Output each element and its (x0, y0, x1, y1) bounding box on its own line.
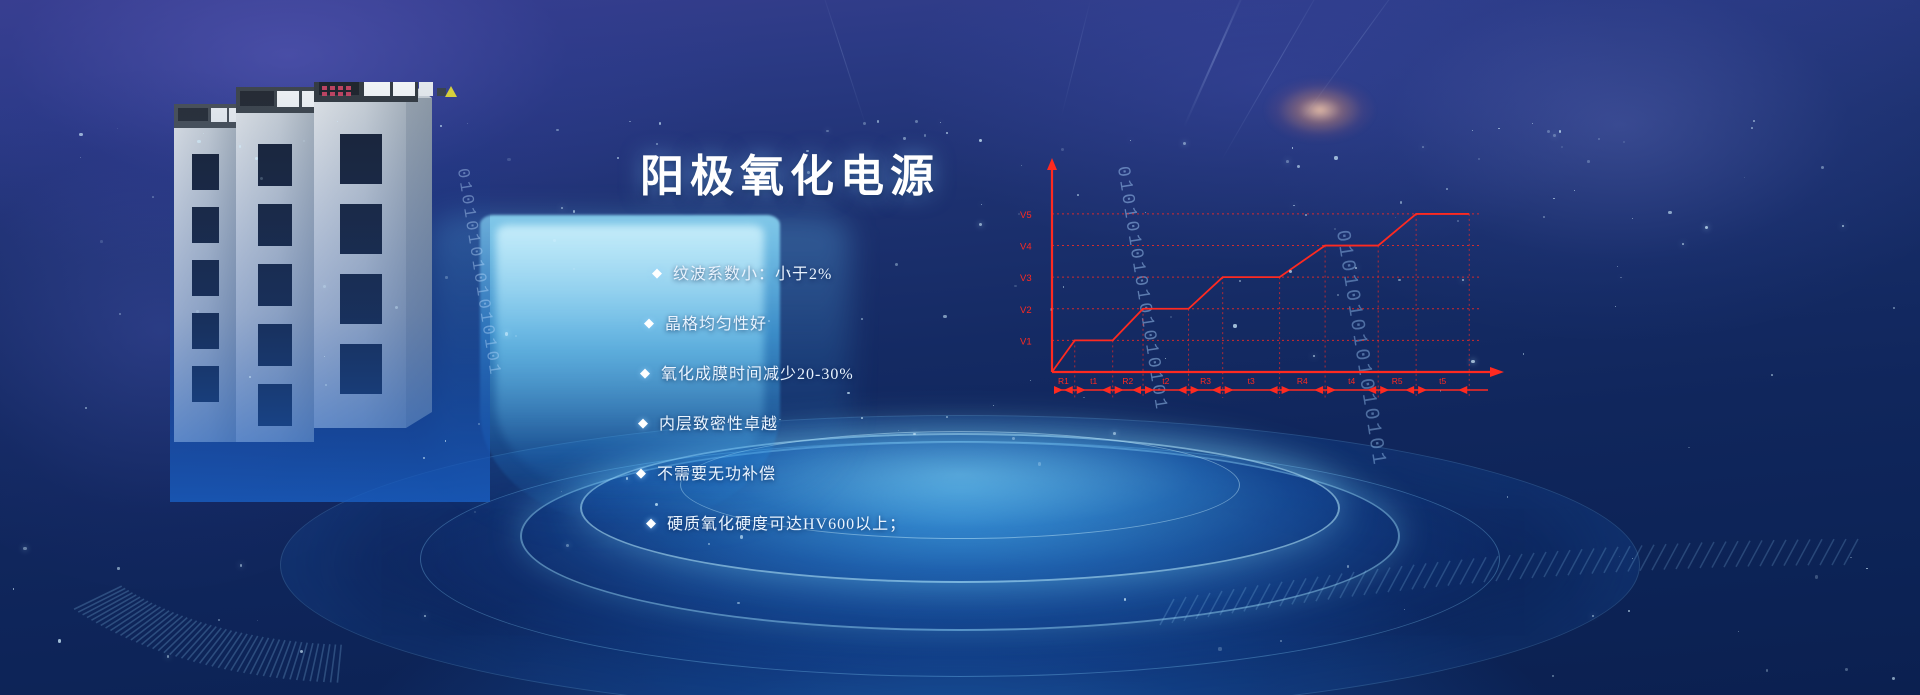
particle (1218, 647, 1221, 650)
page-title: 阳极氧化电源 (640, 140, 1260, 204)
particle (1404, 609, 1405, 610)
feature-item: ◆晶格均匀性好 (644, 310, 1260, 334)
diamond-bullet-icon: ◆ (646, 516, 657, 529)
particle (474, 511, 477, 514)
feature-item: ◆纹波系数小：小于2% (652, 260, 1260, 284)
particle (561, 491, 562, 492)
particle (1821, 166, 1824, 169)
particle (117, 128, 118, 129)
feature-text: 氧化成膜时间减少20-30% (661, 360, 854, 384)
particle (1688, 447, 1689, 448)
light-streak (1183, 0, 1246, 127)
feature-text: 不需要无功补偿 (657, 460, 776, 484)
particle (1705, 226, 1708, 229)
particle (1766, 669, 1769, 672)
particle (1615, 306, 1616, 307)
particle (257, 620, 258, 621)
particle (1124, 598, 1126, 600)
light-streak (1061, 0, 1091, 117)
diamond-bullet-icon: ◆ (640, 366, 651, 379)
particle (626, 477, 628, 479)
particle (826, 130, 828, 132)
particle (863, 122, 866, 125)
particle (573, 210, 576, 213)
particle (1866, 568, 1868, 570)
particle (940, 122, 941, 123)
particle (23, 547, 26, 550)
light-streak (820, 0, 867, 129)
particle (659, 122, 661, 124)
particle (877, 120, 879, 122)
particle (1280, 640, 1282, 642)
particle (561, 207, 563, 209)
particle (1543, 216, 1545, 218)
feature-text: 晶格均匀性好 (665, 310, 767, 334)
particle (13, 588, 15, 590)
particle (515, 335, 517, 337)
chart-segment-label: t4 (1348, 376, 1355, 386)
particle (1422, 146, 1424, 148)
particle (1472, 130, 1473, 131)
feature-text: 纹波系数小：小于2% (673, 260, 832, 284)
particle (1628, 610, 1630, 612)
feature-item: ◆不需要无功补偿 (636, 460, 1260, 484)
chart-segment-label: R4 (1297, 376, 1308, 386)
particle (85, 407, 87, 409)
particle (1523, 353, 1524, 354)
chart-segment-label: R5 (1392, 376, 1403, 386)
particle (1561, 146, 1563, 148)
particle (1598, 138, 1600, 140)
particle (1619, 556, 1620, 557)
particle (1744, 177, 1745, 178)
particle (1617, 266, 1619, 268)
particle (1592, 615, 1594, 617)
particle (629, 121, 630, 122)
diamond-bullet-icon: ◆ (638, 416, 649, 429)
particle (1532, 123, 1533, 124)
lens-flare-glow (1265, 78, 1375, 142)
particle (1892, 677, 1895, 680)
particle (1850, 557, 1851, 558)
particle (1547, 130, 1551, 134)
particle (1738, 631, 1739, 632)
particle (1507, 496, 1509, 498)
particle (1587, 160, 1590, 163)
feature-item: ◆氧化成膜时间减少20-30% (640, 360, 1260, 384)
light-streak (1220, 0, 1326, 162)
particle (100, 240, 103, 243)
particle (1498, 128, 1500, 130)
particle (1623, 141, 1626, 144)
light-streak (1298, 0, 1410, 124)
product-banner: 0101010101010101 010101010101010101 0101… (0, 0, 1920, 695)
particle (58, 639, 61, 642)
particle (617, 157, 619, 159)
particle (553, 239, 556, 242)
particle (507, 158, 510, 161)
particle (79, 133, 82, 136)
diamond-bullet-icon: ◆ (652, 266, 663, 279)
feature-item: ◆内层致密性卓越 (638, 410, 1260, 434)
particle (573, 268, 575, 270)
particle (1553, 198, 1555, 200)
particle (1552, 675, 1553, 676)
content-block: 阳极氧化电源 ◆纹波系数小：小于2%◆晶格均匀性好◆氧化成膜时间减少20-30%… (640, 140, 1260, 560)
particle (424, 615, 427, 618)
particle (167, 655, 169, 657)
particle (1632, 558, 1633, 559)
particle (1753, 120, 1755, 122)
chart-segment-label: t5 (1439, 376, 1446, 386)
particle (1632, 218, 1633, 219)
particle (1682, 243, 1684, 245)
particle (117, 567, 119, 569)
particle (1574, 190, 1576, 192)
particle (566, 544, 569, 547)
diamond-bullet-icon: ◆ (636, 466, 647, 479)
particle (240, 564, 242, 566)
feature-text: 内层致密性卓越 (659, 410, 778, 434)
particle (556, 129, 558, 131)
particle (218, 619, 221, 622)
diamond-bullet-icon: ◆ (644, 316, 655, 329)
particle (1815, 575, 1818, 578)
particle (1771, 374, 1773, 376)
particle (924, 134, 927, 137)
particle (1553, 134, 1556, 137)
particle (737, 602, 739, 604)
particle (1668, 211, 1671, 214)
particle (915, 120, 918, 123)
particle (1292, 147, 1293, 148)
anodizing-power-supply-cabinets (170, 82, 490, 502)
particle (505, 332, 509, 336)
particle (80, 157, 81, 158)
feature-item: ◆硬质氧化硬度可达HV600以上； (646, 510, 1260, 534)
feature-list: ◆纹波系数小：小于2%◆晶格均匀性好◆氧化成膜时间减少20-30%◆内层致密性卓… (640, 260, 1260, 534)
particle (946, 132, 948, 134)
feature-text: 硬质氧化硬度可达HV600以上； (667, 510, 906, 534)
particle (1893, 307, 1895, 309)
particle (1347, 565, 1349, 567)
particle (1842, 225, 1844, 227)
particle (152, 196, 154, 198)
particle (1751, 127, 1753, 129)
particle (119, 313, 121, 315)
particle (1845, 668, 1848, 671)
particle (1620, 277, 1621, 278)
particle (300, 650, 303, 653)
particle (1559, 130, 1561, 132)
